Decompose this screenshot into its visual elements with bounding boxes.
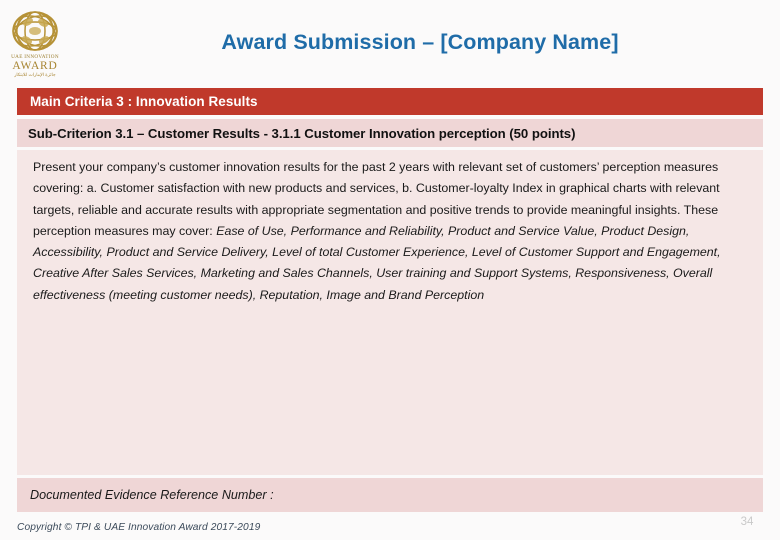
main-criteria-bar: Main Criteria 3 : Innovation Results — [17, 88, 763, 115]
uae-innovation-award-logo: UAE INNOVATION AWARD جائزة الإمارات للاب… — [6, 6, 64, 78]
logo-line2: AWARD — [12, 60, 57, 72]
slide-canvas: UAE INNOVATION AWARD جائزة الإمارات للاب… — [0, 0, 780, 540]
logo-line3: جائزة الإمارات للابتكار — [13, 72, 56, 78]
documented-evidence-label: Documented Evidence Reference Number : — [17, 488, 274, 502]
sub-criterion-label: Sub-Criterion 3.1 – Customer Results - 3… — [17, 126, 575, 141]
sub-criterion-bar: Sub-Criterion 3.1 – Customer Results - 3… — [17, 119, 763, 147]
page-title: Award Submission – [Company Name] — [90, 30, 750, 55]
criterion-description-text: Present your company’s customer innovati… — [33, 157, 739, 306]
footer-copyright: Copyright © TPI & UAE Innovation Award 2… — [17, 522, 260, 533]
criterion-description-panel: Present your company’s customer innovati… — [17, 150, 763, 475]
documented-evidence-bar: Documented Evidence Reference Number : — [17, 478, 763, 512]
award-logo-icon: UAE INNOVATION AWARD جائزة الإمارات للاب… — [6, 6, 64, 78]
main-criteria-label: Main Criteria 3 : Innovation Results — [17, 94, 258, 109]
page-number: 34 — [735, 516, 759, 528]
